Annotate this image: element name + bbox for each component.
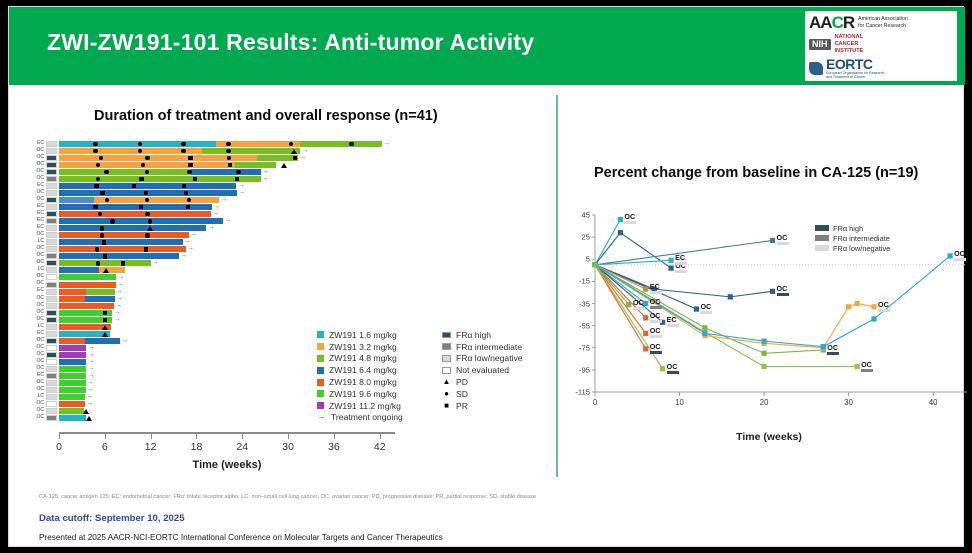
fra-status-swatch xyxy=(46,345,57,351)
treatment-ongoing-arrow: → xyxy=(225,219,232,223)
dose-segment xyxy=(59,225,206,231)
ca125-fra-legend: FRα highFRα intermediateFRα low/negative xyxy=(815,223,890,253)
fra-status-swatch xyxy=(46,190,57,196)
fra-status-swatch xyxy=(46,162,57,168)
tumor-type-label: OC xyxy=(33,316,44,323)
series-fra-swatch xyxy=(633,307,645,310)
presented-at-note: Presented at 2025 AACR-NCI-EORTC Interna… xyxy=(39,533,443,542)
tumor-type-label: OC xyxy=(33,196,44,203)
swimmer-row: OC→ xyxy=(33,302,533,309)
legend-label: FRα high xyxy=(833,224,863,233)
nci-wordmark: NATIONAL CANCER INSTITUTE xyxy=(835,34,864,55)
data-point-marker xyxy=(821,344,826,349)
x-tick-label: 12 xyxy=(145,441,157,453)
dose-segment xyxy=(59,253,179,259)
fra-status-swatch xyxy=(46,289,57,295)
treatment-bar: → xyxy=(59,253,395,259)
aacr-tagline: American Association for Cancer Research… xyxy=(858,16,908,29)
response-marker-pr xyxy=(100,191,104,195)
dose-segment xyxy=(59,274,116,280)
response-marker-sd xyxy=(187,170,191,174)
swimmer-row: EC→ xyxy=(33,140,533,147)
legend-label: Not evaluated xyxy=(456,365,509,375)
fra-status-swatch xyxy=(46,176,57,182)
treatment-bar: → xyxy=(59,232,395,238)
swimmer-row: LC xyxy=(33,267,533,274)
patient-line xyxy=(595,260,671,264)
swimmer-row: EC→ xyxy=(33,203,533,210)
fra-status-swatch xyxy=(46,260,57,266)
tumor-type-label: OC xyxy=(33,273,44,280)
x-tick-label: 18 xyxy=(191,441,203,453)
tumor-type-label: OC xyxy=(33,189,44,196)
fra-status-swatch xyxy=(46,232,57,238)
series-fra-swatch xyxy=(650,291,662,294)
x-tick-label: 36 xyxy=(328,441,340,453)
series-endpoint-label: OC xyxy=(700,303,711,310)
data-point-marker xyxy=(668,266,673,271)
dose-segment xyxy=(191,169,260,175)
response-marker-pd xyxy=(83,409,89,414)
response-marker-pd xyxy=(86,416,92,421)
tumor-type-label: EC xyxy=(33,140,44,147)
swimmer-row: OC→ xyxy=(33,147,533,154)
data-point-marker xyxy=(761,339,766,344)
fra-status-swatch xyxy=(46,317,57,323)
response-marker-pr xyxy=(93,205,97,209)
response-marker-sd xyxy=(96,261,100,265)
series-endpoint-label: OC xyxy=(633,299,644,306)
x-tick xyxy=(59,434,60,439)
legend-label: FRα low/negative xyxy=(456,353,523,363)
x-tick xyxy=(380,434,381,439)
x-tick-label: 0 xyxy=(56,441,62,453)
dose-segment xyxy=(59,211,211,217)
treatment-ongoing-arrow: → xyxy=(117,283,124,287)
treatment-ongoing-arrow: → xyxy=(115,304,122,308)
slide-card: ZWI-ZW191-101 Results: Anti-tumor Activi… xyxy=(8,6,964,547)
series-endpoint-label: OC xyxy=(624,213,635,220)
x-tick-label: 20 xyxy=(760,398,769,407)
treatment-ongoing-arrow: → xyxy=(213,205,220,209)
tumor-type-label: LC xyxy=(33,393,44,400)
swimmer-row: OC→ xyxy=(33,232,533,239)
data-point-marker xyxy=(761,351,766,356)
x-tick xyxy=(151,434,152,439)
dose-segment xyxy=(59,260,151,266)
dose-segment xyxy=(59,282,116,288)
response-marker-sd xyxy=(100,226,104,230)
tumor-type-label: EC xyxy=(33,224,44,231)
dose-segment xyxy=(59,303,114,309)
series-fra-swatch xyxy=(675,262,687,265)
legend-label: FRα high xyxy=(456,330,491,340)
legend-swatch xyxy=(317,355,324,362)
response-marker-pd xyxy=(147,226,153,231)
legend-label: SD xyxy=(456,389,468,399)
dose-segment xyxy=(59,359,86,365)
series-endpoint-label: OC xyxy=(650,312,661,319)
fra-status-swatch xyxy=(46,253,57,259)
dose-segment xyxy=(59,289,86,295)
swimmer-row: EC→ xyxy=(33,210,533,217)
series-endpoint-label: OC xyxy=(878,301,889,308)
series-endpoint-label: OC xyxy=(650,327,661,334)
fra-status-swatch xyxy=(46,415,57,421)
tumor-type-label: EC xyxy=(33,203,44,210)
legend-item: ZW191 1.6 mg/kg xyxy=(317,329,403,341)
legend-label: Treatment ongoing xyxy=(331,412,403,422)
patient-line xyxy=(595,265,857,367)
data-point-marker xyxy=(618,217,623,222)
legend-label: PD xyxy=(456,377,468,387)
legend-swatch xyxy=(442,343,451,350)
fra-status-swatch xyxy=(46,373,57,379)
fra-status-swatch xyxy=(46,246,57,252)
data-point-marker xyxy=(694,306,699,311)
data-point-marker xyxy=(770,238,775,243)
y-tick-label: -35 xyxy=(565,299,590,308)
dose-segment xyxy=(59,183,236,189)
legend-swatch xyxy=(317,343,324,350)
response-marker-sd xyxy=(95,247,99,251)
dose-segment xyxy=(59,232,189,238)
legend-item: ZW191 6.4 mg/kg xyxy=(317,364,403,376)
x-tick-label: 10 xyxy=(675,398,684,407)
response-marker-pr xyxy=(94,184,98,188)
fra-status-swatch xyxy=(46,352,57,358)
dose-segment xyxy=(86,289,115,295)
aacr-logo: AACR American Association for Cancer Res… xyxy=(809,14,953,31)
response-marker-sd xyxy=(93,142,97,146)
dose-segment xyxy=(59,162,235,168)
data-point-marker xyxy=(702,331,707,336)
swimmer-row: OC→ xyxy=(33,274,533,281)
legend-label: ZW191 1.6 mg/kg xyxy=(329,330,397,340)
data-point-marker xyxy=(643,331,648,336)
legend-swatch xyxy=(442,367,451,374)
response-marker-pr xyxy=(228,163,232,167)
treatment-bar: → xyxy=(59,197,395,203)
legend-swatch xyxy=(317,331,324,338)
treatment-bar: → xyxy=(59,225,395,231)
tumor-type-label: OC xyxy=(33,379,44,386)
legend-item: ZW191 8.0 mg/kg xyxy=(317,376,403,388)
legend-label: ZW191 6.4 mg/kg xyxy=(329,365,397,375)
dose-segment xyxy=(59,345,86,351)
swimmer-row: OC→ xyxy=(33,316,533,323)
fra-status-swatch xyxy=(46,366,57,372)
tumor-type-label: OC xyxy=(33,414,44,421)
treatment-ongoing-arrow: → xyxy=(212,212,219,216)
treatment-ongoing-arrow: → xyxy=(88,353,95,357)
abbreviations-footnote: CA-125: cancer antigen 125; EC: endometr… xyxy=(39,494,536,500)
response-marker-sd xyxy=(93,149,97,153)
fra-status-swatch xyxy=(46,282,57,288)
swimmer-row: OC→ xyxy=(33,281,533,288)
data-point-marker xyxy=(761,364,766,369)
legend-swatch xyxy=(317,390,324,397)
response-marker-sd xyxy=(181,149,185,153)
dose-segment xyxy=(59,218,223,224)
data-point-marker xyxy=(626,302,631,307)
response-marker-pd xyxy=(102,325,108,330)
arrow-icon: → xyxy=(317,413,326,421)
data-point-marker xyxy=(643,287,648,292)
treatment-bar: → xyxy=(59,141,395,147)
treatment-ongoing-arrow: → xyxy=(118,276,125,280)
fra-status-swatch xyxy=(46,324,57,330)
fra-status-swatch xyxy=(46,211,57,217)
treatment-bar: → xyxy=(59,204,395,210)
right-panel-title: Percent change from baseline in CA-125 (… xyxy=(594,165,918,181)
tumor-type-label: OC xyxy=(33,351,44,358)
response-marker-pr xyxy=(121,261,125,265)
tumor-type-label: OC xyxy=(33,407,44,414)
response-marker-pr xyxy=(144,191,148,195)
series-endpoint-label: OC xyxy=(777,234,788,241)
legend-item: ■PR xyxy=(442,400,523,412)
treatment-ongoing-arrow: → xyxy=(86,395,93,399)
treatment-ongoing-arrow: → xyxy=(262,170,269,174)
y-tick-label: -55 xyxy=(565,321,590,330)
legend-item: ZW191 3.2 mg/kg xyxy=(317,341,403,353)
treatment-ongoing-arrow: → xyxy=(221,198,228,202)
tumor-type-label: EC xyxy=(33,182,44,189)
legend-item: FRα high xyxy=(442,329,523,341)
series-fra-swatch xyxy=(650,306,662,309)
patient-line xyxy=(595,265,629,305)
response-marker-pr xyxy=(132,184,136,188)
treatment-ongoing-arrow: → xyxy=(180,254,187,258)
treatment-bar: → xyxy=(59,211,395,217)
fra-status-swatch xyxy=(46,408,57,414)
fra-status-swatch xyxy=(46,225,57,231)
legend-item: FRα high xyxy=(815,223,890,233)
treatment-bar: → xyxy=(59,282,395,288)
fra-status-swatch xyxy=(46,310,57,316)
series-endpoint-label: OC xyxy=(650,298,661,305)
x-tick xyxy=(105,434,106,439)
fra-status-swatch xyxy=(46,401,57,407)
series-endpoint-label: EC xyxy=(667,316,677,323)
x-tick xyxy=(196,434,197,439)
treatment-ongoing-arrow: → xyxy=(86,402,93,406)
treatment-ongoing-arrow: → xyxy=(114,311,121,315)
tumor-type-label: OC xyxy=(33,337,44,344)
legend-swatch xyxy=(815,225,829,231)
x-tick-label: 24 xyxy=(236,441,248,453)
series-fra-swatch xyxy=(650,335,662,338)
dose-segment xyxy=(235,162,276,168)
swimmer-row: EC→ xyxy=(33,288,533,295)
legend-swatch xyxy=(815,245,829,251)
swimmer-row: OC xyxy=(33,415,533,422)
legend-item: ZW191 4.8 mg/kg xyxy=(317,353,403,365)
treatment-bar: → xyxy=(59,303,395,309)
tumor-type-label: OC xyxy=(33,295,44,302)
dose-segment xyxy=(59,394,85,400)
aacr-wordmark-icon: AACR xyxy=(809,14,854,31)
treatment-bar: → xyxy=(59,155,395,161)
legend-item: FRα low/negative xyxy=(442,353,523,365)
tumor-type-label: LC xyxy=(33,238,44,245)
response-marker-sd xyxy=(138,142,142,146)
response-marker-pr xyxy=(103,311,107,315)
swimmer-row: OC→ xyxy=(33,295,533,302)
tumor-type-label: OC xyxy=(33,161,44,168)
ca125-x-axis-label: Time (weeks) xyxy=(736,431,802,443)
treatment-bar xyxy=(59,267,395,273)
legend-item: FRα low/negative xyxy=(815,243,890,253)
tumor-type-label: EC xyxy=(33,372,44,379)
data-point-marker xyxy=(660,366,665,371)
series-fra-swatch xyxy=(700,311,712,314)
treatment-ongoing-arrow: → xyxy=(152,261,159,265)
treatment-ongoing-arrow: → xyxy=(184,240,191,244)
treatment-ongoing-arrow: → xyxy=(87,388,94,392)
legend-label: ZW191 11.2 mg/kg xyxy=(329,401,401,411)
swimmer-row: OC→ xyxy=(33,189,533,196)
fra-status-swatch xyxy=(46,274,57,280)
x-tick-label: 40 xyxy=(929,398,938,407)
series-fra-swatch xyxy=(650,351,662,354)
fra-status-swatch xyxy=(46,267,57,273)
data-point-marker xyxy=(668,258,673,263)
response-marker-pr xyxy=(293,156,297,160)
series-fra-swatch xyxy=(827,352,839,355)
response-marker-pr xyxy=(184,191,188,195)
data-point-marker xyxy=(871,316,876,321)
data-point-marker xyxy=(871,304,876,309)
tumor-type-label: OC xyxy=(33,154,44,161)
dose-segment xyxy=(59,415,86,421)
response-marker-pr xyxy=(188,156,192,160)
panel-divider xyxy=(556,95,558,477)
series-fra-swatch xyxy=(667,371,679,374)
y-tick-label: 45 xyxy=(565,211,590,220)
treatment-ongoing-arrow: → xyxy=(187,247,194,251)
treatment-ongoing-arrow: → xyxy=(384,142,391,146)
legend-swatch xyxy=(317,367,324,374)
dose-segment xyxy=(59,239,183,245)
series-endpoint-label: OC xyxy=(650,343,661,350)
dose-segment xyxy=(59,296,85,302)
treatment-bar: → xyxy=(59,246,395,252)
tumor-type-label: OC xyxy=(33,280,44,287)
fra-status-swatch xyxy=(46,197,57,203)
data-point-marker xyxy=(728,294,733,299)
treatment-ongoing-arrow: → xyxy=(122,339,129,343)
legend-swatch xyxy=(442,355,451,362)
legend-item: ZW191 11.2 mg/kg xyxy=(317,400,403,412)
logo-group: AACR American Association for Cancer Res… xyxy=(805,11,957,81)
legend-label: FRα intermediate xyxy=(833,234,890,243)
fra-status-swatch xyxy=(46,218,57,224)
data-point-marker xyxy=(854,364,859,369)
response-marker-sd xyxy=(226,142,230,146)
fra-status-swatch xyxy=(46,183,57,189)
series-fra-swatch xyxy=(878,309,890,312)
legend-item: ZW191 9.6 mg/kg xyxy=(317,388,403,400)
response-marker-pr xyxy=(235,177,239,181)
swimmer-row: OC→ xyxy=(33,260,533,267)
y-tick-label: 5 xyxy=(565,255,590,264)
response-marker-pr xyxy=(144,247,148,251)
dose-segment xyxy=(59,387,86,393)
tumor-type-label: LC xyxy=(33,323,44,330)
response-marker-pr xyxy=(193,177,197,181)
response-marker-pd xyxy=(102,332,108,337)
data-point-marker xyxy=(846,304,851,309)
y-tick-label: -115 xyxy=(565,388,590,397)
swimmer-x-axis: 06121824303642 xyxy=(59,432,395,434)
swimmer-row: OC→ xyxy=(33,168,533,175)
series-fra-swatch xyxy=(624,221,636,224)
series-fra-swatch xyxy=(675,270,687,273)
tumor-type-label: LC xyxy=(33,266,44,273)
treatment-ongoing-arrow: → xyxy=(208,226,215,230)
legend-label: FRα low/negative xyxy=(833,244,890,253)
treatment-ongoing-arrow: → xyxy=(88,346,95,350)
dose-segment xyxy=(59,352,86,358)
response-marker-pr xyxy=(103,318,107,322)
tumor-type-label: OC xyxy=(33,231,44,238)
response-marker-sd xyxy=(100,233,104,237)
response-marker-pr xyxy=(102,240,106,244)
treatment-ongoing-arrow: → xyxy=(88,360,95,364)
legend-label: ZW191 8.0 mg/kg xyxy=(329,377,397,387)
treatment-bar: → xyxy=(59,183,395,189)
data-point-marker xyxy=(643,301,648,306)
swimmer-row: EC→ xyxy=(33,225,533,232)
fra-status-swatch xyxy=(46,148,57,154)
dose-legend: ZW191 1.6 mg/kgZW191 3.2 mg/kgZW191 4.8 … xyxy=(317,329,403,423)
nci-logo: NIH NATIONAL CANCER INSTITUTE xyxy=(809,34,953,55)
series-fra-swatch xyxy=(667,324,679,327)
response-marker-pr xyxy=(139,177,143,181)
treatment-ongoing-arrow: → xyxy=(300,156,307,160)
series-fra-swatch xyxy=(777,293,789,296)
data-cutoff-note: Data cutoff: September 10, 2025 xyxy=(39,513,185,524)
tumor-type-label: OC xyxy=(33,147,44,154)
swimmer-row: EC→ xyxy=(33,218,533,225)
dose-segment xyxy=(59,169,191,175)
tumor-type-label: OC xyxy=(33,400,44,407)
series-endpoint-label: OC xyxy=(777,285,788,292)
response-marker-pd xyxy=(103,268,109,273)
fra-status-swatch xyxy=(46,387,57,393)
legend-swatch xyxy=(317,379,324,386)
ca125-spaghetti-plot: 45255-15-35-55-75-95-115010203040OCOCOCE… xyxy=(565,207,972,422)
y-tick-label: 25 xyxy=(565,233,590,242)
nih-mark-icon: NIH xyxy=(809,39,831,51)
left-panel-title: Duration of treatment and overall respon… xyxy=(94,108,438,124)
response-marker-sd xyxy=(181,142,185,146)
dose-segment xyxy=(193,176,260,182)
treatment-bar: → xyxy=(59,289,395,295)
tumor-type-label: OC xyxy=(33,259,44,266)
fra-status-swatch xyxy=(46,359,57,365)
response-marker-pd xyxy=(281,163,287,168)
response-symbol-icon: ■ xyxy=(442,402,451,410)
x-tick-label: 30 xyxy=(844,398,853,407)
data-point-marker xyxy=(643,315,648,320)
tumor-type-label: EC xyxy=(33,330,44,337)
treatment-ongoing-arrow: → xyxy=(116,297,123,301)
swimmer-row: OC→ xyxy=(33,154,533,161)
response-marker-sd xyxy=(145,156,149,160)
